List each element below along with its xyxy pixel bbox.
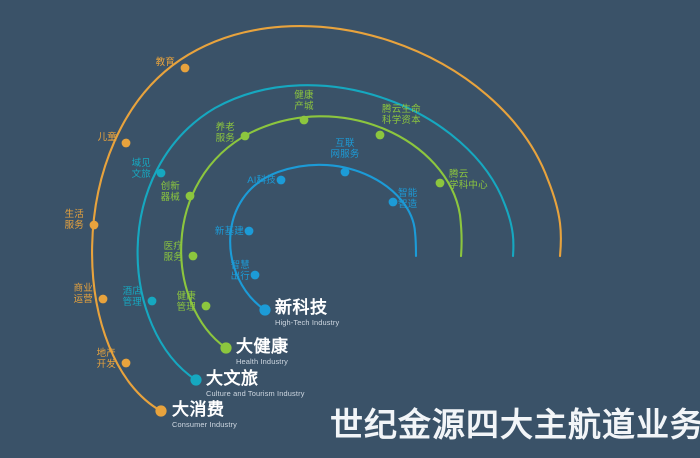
label-culture-yujian-travel: 域见 文旅: [97, 158, 151, 180]
node-consumer-real-estate[interactable]: [122, 359, 131, 368]
label-hightech-smart-mfg: 智能 智造: [398, 188, 452, 210]
node-health-endpoint[interactable]: [220, 342, 231, 353]
label-consumer-commercial-ops: 商业 运营: [39, 283, 93, 305]
node-health-tengyun-subject[interactable]: [436, 179, 445, 188]
endcap-hightech-en: High-Tech Industry: [275, 318, 339, 327]
label-consumer-real-estate: 地产 开发: [62, 348, 116, 370]
label-health-tengyun-life: 腾云生命 科学资本: [382, 104, 454, 126]
node-health-elderly-care[interactable]: [241, 132, 250, 141]
arc-graphic: [0, 0, 700, 458]
node-health-health-city[interactable]: [300, 116, 309, 125]
node-health-health-mgmt[interactable]: [202, 302, 211, 311]
node-consumer-education[interactable]: [181, 64, 190, 73]
label-hightech-internet-services: 互联 网服务: [316, 138, 374, 160]
node-culture-yujian-travel[interactable]: [157, 169, 166, 178]
label-hightech-ai-tech: AI科技: [224, 175, 276, 186]
node-consumer-children[interactable]: [122, 139, 131, 148]
endcap-culture-en: Culture and Tourism Industry: [206, 389, 305, 398]
endcap-consumer-cn: 大消费: [172, 400, 237, 419]
node-hightech-ai-tech[interactable]: [277, 176, 286, 185]
label-consumer-life-services: 生活 服务: [30, 209, 84, 231]
label-consumer-children: 儿童: [62, 132, 117, 143]
endcap-hightech[interactable]: 新科技 High-Tech Industry: [275, 298, 339, 327]
label-health-innov-devices: 创新 器械: [126, 181, 180, 203]
node-consumer-endpoint[interactable]: [155, 405, 166, 416]
endcap-hightech-cn: 新科技: [275, 298, 339, 317]
node-culture-endpoint[interactable]: [190, 374, 201, 385]
label-health-elderly-care: 养老 服务: [181, 122, 235, 144]
label-hightech-smart-mobility: 智慧 出行: [196, 260, 250, 282]
endcap-culture[interactable]: 大文旅 Culture and Tourism Industry: [206, 369, 305, 398]
endcap-health-en: Health Industry: [236, 357, 289, 366]
endcap-culture-cn: 大文旅: [206, 369, 305, 388]
diagram-canvas: 教育 儿童 生活 服务 商业 运营 地产 开发 域见 文旅 酒店 管理 健康 产…: [0, 0, 700, 458]
endcap-consumer[interactable]: 大消费 Consumer Industry: [172, 400, 237, 429]
endcap-consumer-en: Consumer Industry: [172, 420, 237, 429]
node-health-tengyun-life[interactable]: [376, 131, 385, 140]
node-hightech-internet-services[interactable]: [341, 168, 350, 177]
page-title: 世纪金源四大主航道业务: [330, 398, 700, 446]
label-culture-hotel-mgmt: 酒店 管理: [88, 286, 142, 308]
label-hightech-new-infra: 新基建: [196, 226, 244, 237]
label-health-health-mgmt: 健康 管理: [142, 291, 196, 313]
label-consumer-education: 教育: [120, 57, 175, 68]
arc-consumer: [92, 26, 561, 411]
label-health-tengyun-subject: 腾云 学科中心: [449, 169, 511, 191]
arc-hightech: [230, 165, 416, 310]
endcap-health-cn: 大健康: [236, 337, 289, 356]
node-hightech-smart-mfg[interactable]: [389, 198, 398, 207]
label-health-medical-services: 医疗 服务: [129, 241, 183, 263]
label-health-health-city: 健康 产城: [277, 90, 331, 112]
node-health-innov-devices[interactable]: [186, 192, 195, 201]
endcap-health[interactable]: 大健康 Health Industry: [236, 337, 289, 366]
node-hightech-new-infra[interactable]: [245, 227, 254, 236]
node-hightech-endpoint[interactable]: [259, 304, 270, 315]
node-consumer-life-services[interactable]: [90, 221, 99, 230]
node-hightech-smart-mobility[interactable]: [251, 271, 260, 280]
